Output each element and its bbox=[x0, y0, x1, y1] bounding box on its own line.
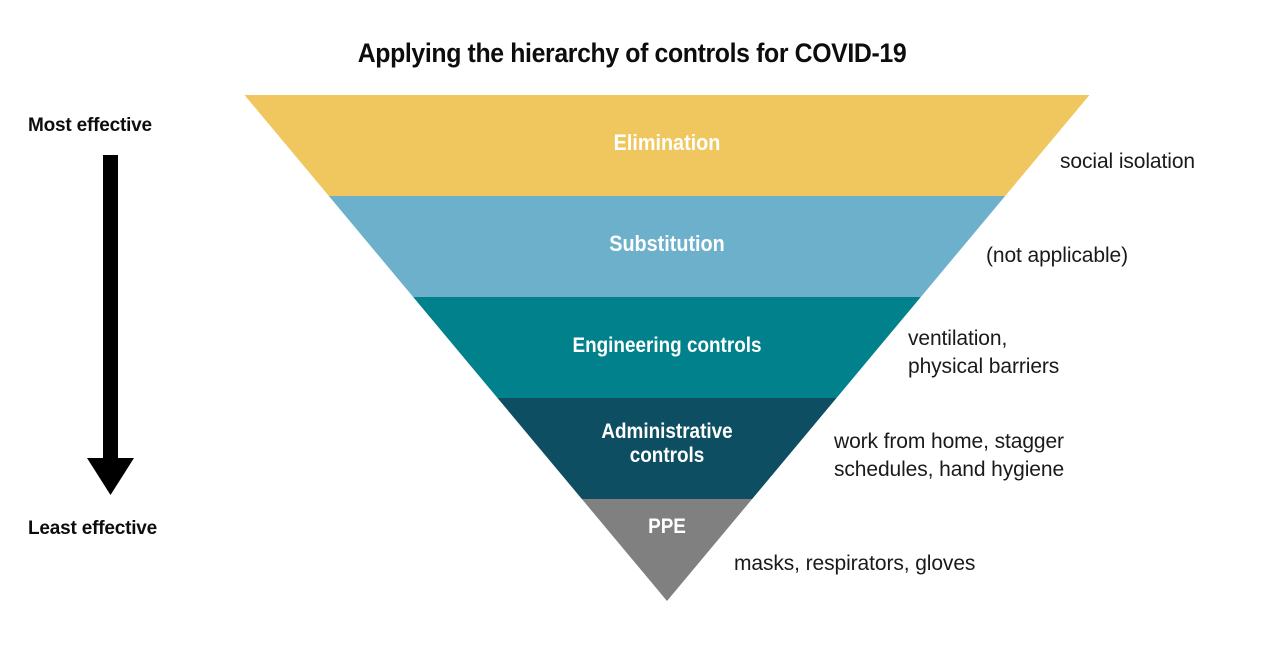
funnel-annotation-4: work from home, stagger schedules, hand … bbox=[834, 428, 1064, 483]
hierarchy-of-controls-funnel: Eliminationsocial isolationSubstitution(… bbox=[0, 0, 1264, 644]
funnel-annotation-1: social isolation bbox=[1060, 148, 1195, 176]
funnel-annotation-2: (not applicable) bbox=[986, 242, 1128, 270]
funnel-band-3[interactable] bbox=[413, 297, 921, 398]
funnel-annotation-3: ventilation, physical barriers bbox=[908, 325, 1059, 380]
funnel-band-4[interactable] bbox=[497, 398, 836, 499]
funnel-band-5[interactable] bbox=[582, 499, 752, 601]
funnel-band-2[interactable] bbox=[329, 196, 1005, 297]
funnel-band-1[interactable] bbox=[245, 95, 1090, 196]
funnel-annotation-5: masks, respirators, gloves bbox=[734, 550, 975, 578]
funnel-bands bbox=[0, 0, 1264, 644]
